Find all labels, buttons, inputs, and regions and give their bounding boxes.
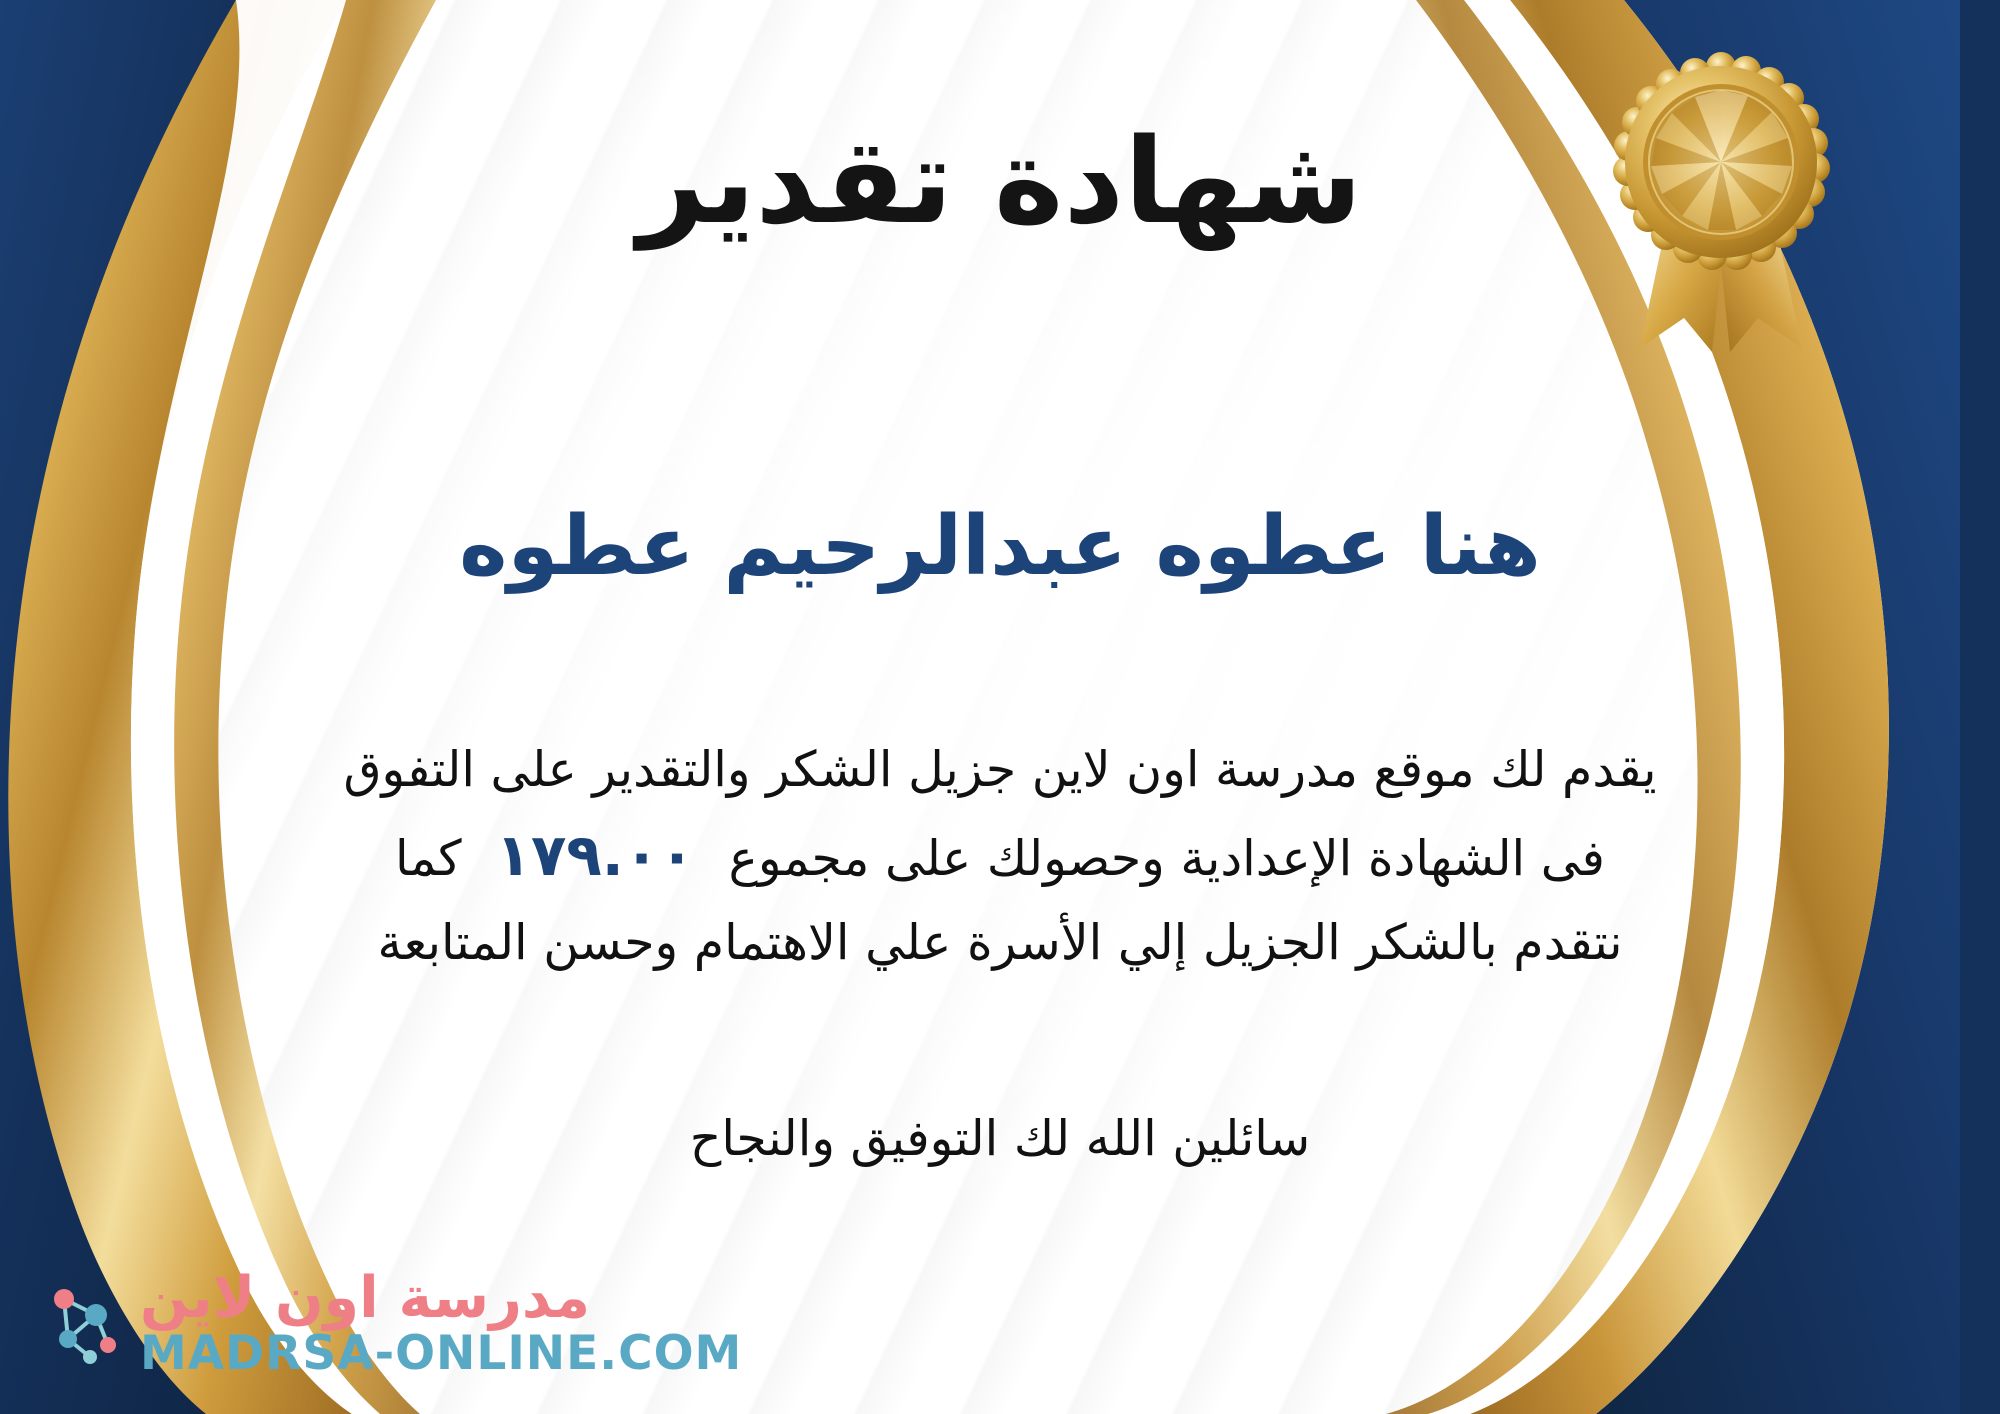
brand-logo-text: مدرسة اون لاين MADRSA-ONLINE.COM: [140, 1269, 742, 1378]
certificate-canvas: شهادة تقدير هنا عطوه عبدالرحيم عطوه يقدم…: [0, 0, 2000, 1414]
body-line-2-prefix: فى الشهادة الإعدادية وحصولك على مجموع: [729, 830, 1605, 887]
score-value: ١٧٩.٠٠: [462, 809, 729, 903]
student-name: هنا عطوه عبدالرحيم عطوه: [0, 500, 2000, 594]
body-line-2-suffix: كما: [395, 830, 462, 887]
body-line-3: نتقدم بالشكر الجزيل إلي الأسرة علي الاهت…: [250, 903, 1750, 982]
page-title: شهادة تقدير: [0, 120, 2000, 244]
closing-wish: سائلين الله لك التوفيق والنجاح: [0, 1110, 2000, 1167]
body-paragraph: يقدم لك موقع مدرسة اون لاين جزيل الشكر و…: [250, 730, 1750, 983]
network-nodes-icon: [34, 1277, 126, 1369]
brand-website-url: MADRSA-ONLINE.COM: [140, 1329, 742, 1378]
brand-arabic-name: مدرسة اون لاين: [140, 1269, 590, 1329]
brand-logo[interactable]: مدرسة اون لاين MADRSA-ONLINE.COM: [34, 1269, 742, 1378]
certificate-content: شهادة تقدير هنا عطوه عبدالرحيم عطوه يقدم…: [0, 0, 2000, 1414]
body-line-2: فى الشهادة الإعدادية وحصولك على مجموع١٧٩…: [250, 809, 1750, 903]
body-line-1: يقدم لك موقع مدرسة اون لاين جزيل الشكر و…: [250, 730, 1750, 809]
